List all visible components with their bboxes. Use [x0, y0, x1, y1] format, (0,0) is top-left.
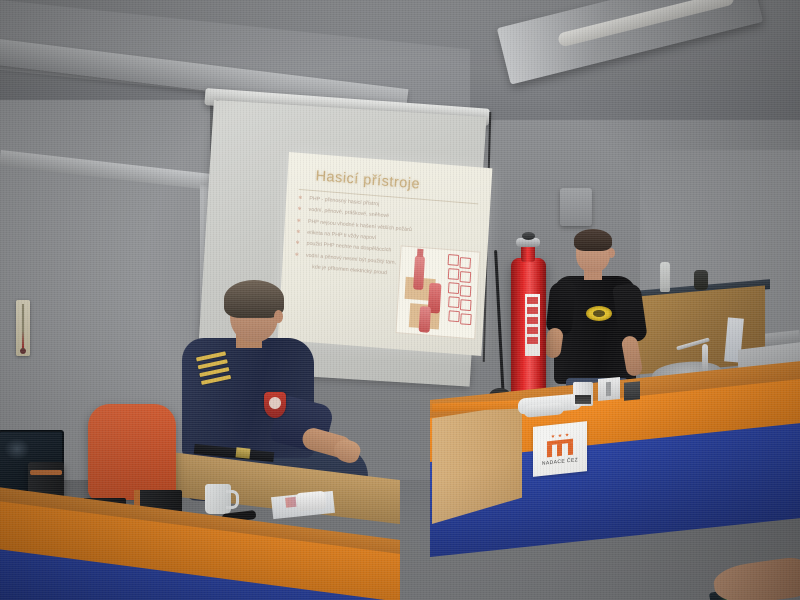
bottle	[660, 262, 670, 292]
white-object	[295, 491, 326, 512]
hand-holding-phone	[696, 550, 800, 600]
hand	[712, 556, 800, 600]
belt-buckle-icon	[236, 447, 251, 458]
slide-title: Hasicí přístroje	[315, 168, 420, 192]
extinguisher-drawing-icon	[419, 306, 432, 333]
extinguisher-drawing-icon	[413, 255, 425, 290]
presenter-hair	[574, 229, 612, 251]
extinguisher-knob-icon[interactable]	[522, 232, 535, 240]
presenter-ear	[608, 248, 615, 258]
photo-scene: Hasicí přístroje PHP - přenosný hasicí p…	[0, 0, 800, 600]
tower-accent	[30, 470, 62, 475]
arm-badge-icon	[264, 392, 286, 418]
dark-box	[624, 381, 640, 400]
nadace-cez-sticker: NADACE ČEZ	[533, 421, 587, 477]
cez-brand-text: NADACE ČEZ	[542, 457, 578, 467]
cez-pillars-icon	[547, 438, 573, 457]
symbol-grid	[443, 254, 476, 336]
faucet-handle[interactable]	[702, 344, 708, 374]
mug-right	[573, 382, 593, 406]
extinguisher-label	[525, 294, 540, 356]
white-box	[598, 377, 620, 401]
dark-object	[694, 270, 708, 290]
slide-illustration	[395, 245, 480, 339]
thermometer-bulb-icon	[20, 348, 26, 354]
wall-thermometer	[16, 300, 30, 356]
mug-left	[205, 484, 231, 514]
cez-stars-icon	[551, 433, 569, 439]
presenter-sleeve-left	[545, 281, 576, 335]
tshirt-logo-icon	[586, 306, 612, 321]
wall-box	[560, 188, 592, 226]
firefighter-ear	[274, 310, 283, 323]
orange-office-chair[interactable]	[88, 404, 176, 500]
